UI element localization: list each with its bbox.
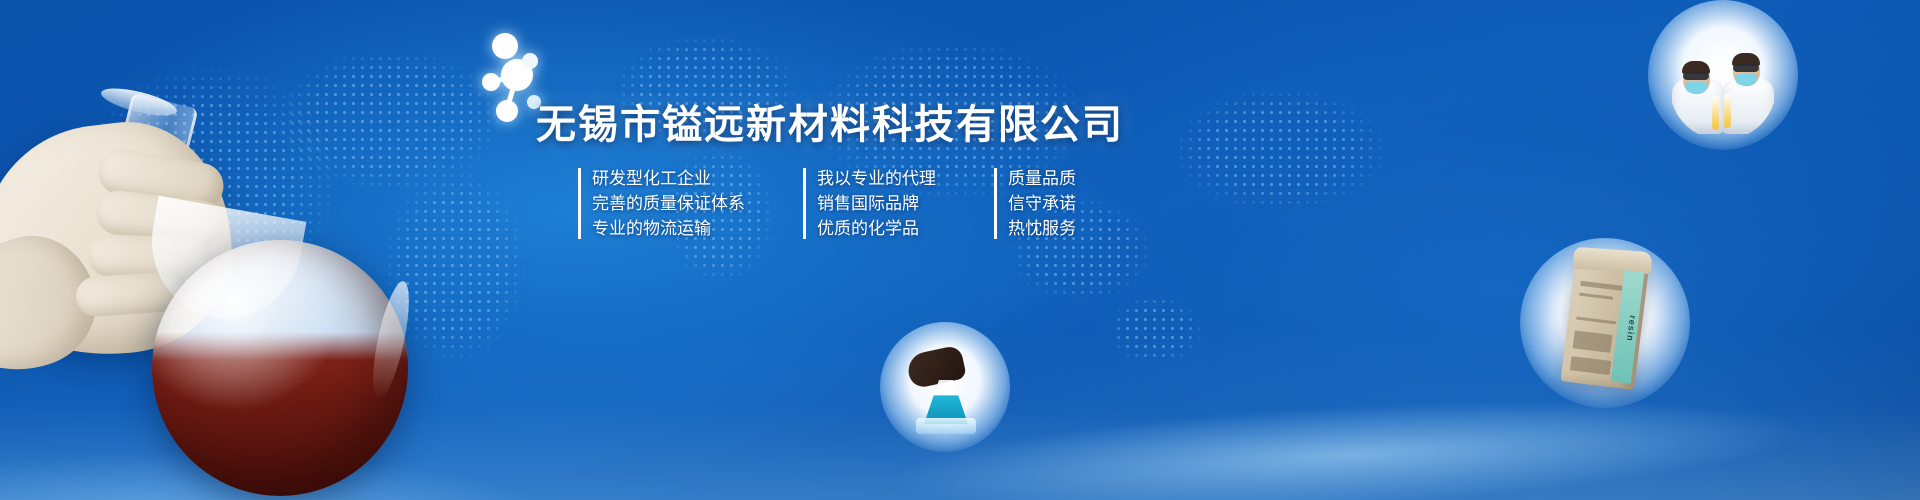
tagline-text: 销售国际品牌 [817,193,936,214]
badge-pouring-flask [880,322,1010,452]
tagline-text: 信守承诺 [1008,193,1076,214]
flask-scene-image [0,90,410,500]
sack-print-line [1580,281,1622,291]
face-mask [1685,82,1707,93]
tagline-text: 质量品质 [1008,168,1076,189]
tagline-group: 研发型化工企业 完善的质量保证体系 专业的物流运输 我以专业的代理 销售国际品牌… [578,168,1076,239]
safety-goggles-icon [1683,72,1709,80]
company-hero-banner: 无锡市镒远新材料科技有限公司 研发型化工企业 完善的质量保证体系 专业的物流运输… [0,0,1920,500]
safety-goggles-icon [1733,64,1759,72]
tagline-column-rnd: 研发型化工企业 完善的质量保证体系 专业的物流运输 [578,168,745,239]
scientist-right [1720,38,1774,134]
flask-base-glow [916,418,976,434]
tagline-text: 我以专业的代理 [817,168,936,189]
tagline-text: 完善的质量保证体系 [592,193,745,214]
page-title: 无锡市镒远新材料科技有限公司 [536,92,1124,150]
resin-paper-sack: resin [1560,254,1649,390]
tagline-text: 热忱服务 [1008,218,1076,239]
scientists-photo [1670,36,1776,140]
product-photo: resin [1520,238,1690,408]
tagline-text: 专业的物流运输 [592,218,745,239]
tagline-column-service: 质量品质 信守承诺 热忱服务 [994,168,1076,239]
tagline-column-agency: 我以专业的代理 销售国际品牌 优质的化学品 [803,168,936,239]
flask-bulb-with-red-liquid [152,240,408,496]
test-tube [1724,94,1731,128]
badge-scientists [1648,0,1798,150]
scientist-left [1672,42,1724,134]
tagline-text: 研发型化工企业 [592,168,745,189]
sack-print-line [1579,293,1613,300]
badge-product-sack: resin [1520,238,1690,408]
sack-folded-top [1573,247,1652,274]
tagline-text: 优质的化学品 [817,218,936,239]
test-tube [1712,96,1719,130]
sack-print-block [1573,330,1613,352]
sack-print-line [1576,316,1616,324]
pouring-photo [880,322,1010,452]
gloved-hand [905,345,967,390]
sack-print-block [1570,356,1611,375]
face-mask [1735,74,1757,85]
